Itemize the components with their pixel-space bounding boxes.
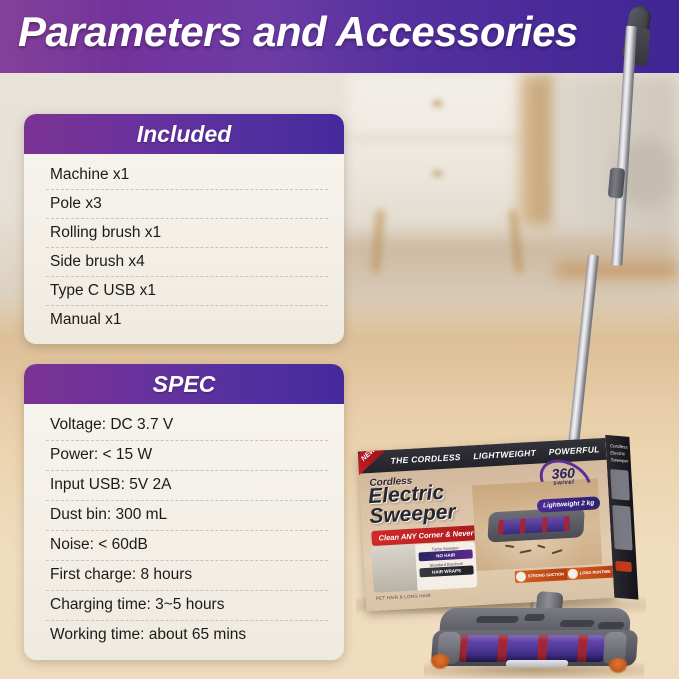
box-photo-debris: [519, 549, 531, 553]
header-banner: Parameters and Accessories: [0, 0, 679, 73]
spec-row: Charging time: 3~5 hours: [24, 590, 344, 620]
spec-row: Power: < 15 W: [24, 440, 344, 470]
included-row: Machine x1: [24, 160, 344, 189]
included-row: Manual x1: [24, 305, 344, 334]
spec-row: First charge: 8 hours: [24, 560, 344, 590]
comparison-photo: [371, 545, 417, 593]
side-brush-left: [430, 654, 450, 670]
side-brush-right: [608, 658, 628, 674]
floor-shading: [340, 236, 679, 316]
page-title: Parameters and Accessories: [18, 8, 578, 56]
comparison-hair-wraps-pill: HAIR WRAPS: [419, 566, 473, 578]
badge-360-swivel: 360 swivel: [541, 465, 586, 495]
box-front-panel: NEW THE CORDLESS LIGHTWEIGHT POWERFUL Co…: [358, 438, 615, 612]
spec-card-title: SPEC: [153, 371, 216, 398]
included-card-title: Included: [137, 121, 232, 148]
spec-card-body: Voltage: DC 3.7 V Power: < 15 W Input US…: [24, 404, 344, 660]
box-side-text: Cordless Electric Sweeper: [610, 443, 631, 465]
comparison-no-hair-pill: NO HAIR: [418, 550, 472, 562]
feature-badge-runtime: LONG RUNTIME: [567, 565, 615, 580]
box-side-photo-upper: [610, 469, 630, 500]
sweeper-head-vent: [597, 622, 625, 629]
box-photo-debris: [505, 545, 514, 548]
dresser-drawer-line: [352, 137, 544, 140]
spec-row: Noise: < 60dB: [24, 530, 344, 560]
product-spec-infographic: Parameters and Accessories Cordless Elec…: [0, 0, 679, 679]
box-side-badge: [615, 561, 632, 572]
sweeper-roller-brush: [457, 635, 607, 662]
product-packaging-box: Cordless Electric Sweeper NEW THE CORDLE…: [358, 437, 637, 612]
sweeper-head-vent: [475, 616, 519, 623]
box-feature-powerful: POWERFUL: [548, 444, 600, 457]
box-feature-cordless: THE CORDLESS: [390, 452, 461, 466]
included-card-header: Included: [24, 114, 344, 154]
dresser-knob-upper: [432, 100, 443, 107]
box-footnote: PET HAIR & LONG HAIR: [376, 593, 431, 601]
included-row: Type C USB x1: [24, 276, 344, 305]
sweeper-head: [432, 608, 637, 674]
dresser-side-panel: [520, 74, 556, 226]
included-row: Side brush x4: [24, 247, 344, 276]
included-card-body: Machine x1 Pole x3 Rolling brush x1 Side…: [24, 154, 344, 344]
box-photo-debris: [537, 544, 545, 548]
box-product-title: Electric Sweeper: [368, 482, 456, 526]
spec-row: Input USB: 5V 2A: [24, 470, 344, 500]
sweeper-pole-joint-upper: [608, 167, 626, 198]
included-row: Rolling brush x1: [24, 218, 344, 247]
box-comparison-panel: Turbo Sweeper NO HAIR Standard Brushroll…: [371, 541, 477, 593]
spec-row: Dust bin: 300 mL: [24, 500, 344, 530]
spec-card: SPEC Voltage: DC 3.7 V Power: < 15 W Inp…: [24, 364, 344, 660]
badge-360-sub: swivel: [542, 479, 586, 487]
box-feature-lightweight: LIGHTWEIGHT: [473, 448, 536, 461]
sweeper-head-front-strip: [506, 660, 568, 667]
box-side-photo-lower: [612, 505, 633, 550]
box-photo-debris: [552, 549, 563, 554]
included-row: Pole x3: [24, 189, 344, 218]
dresser-knob-lower: [432, 170, 443, 177]
spec-card-header: SPEC: [24, 364, 344, 404]
box-title-line-2: Sweeper: [369, 502, 456, 527]
comparison-labels: Turbo Sweeper NO HAIR Standard Brushroll…: [415, 541, 477, 590]
sweeper-head-vent: [559, 620, 595, 627]
spec-row: Voltage: DC 3.7 V: [24, 410, 344, 440]
included-card: Included Machine x1 Pole x3 Rolling brus…: [24, 114, 344, 344]
sweeper-head-vent: [523, 614, 545, 621]
spec-row: Working time: about 65 mins: [24, 620, 344, 650]
